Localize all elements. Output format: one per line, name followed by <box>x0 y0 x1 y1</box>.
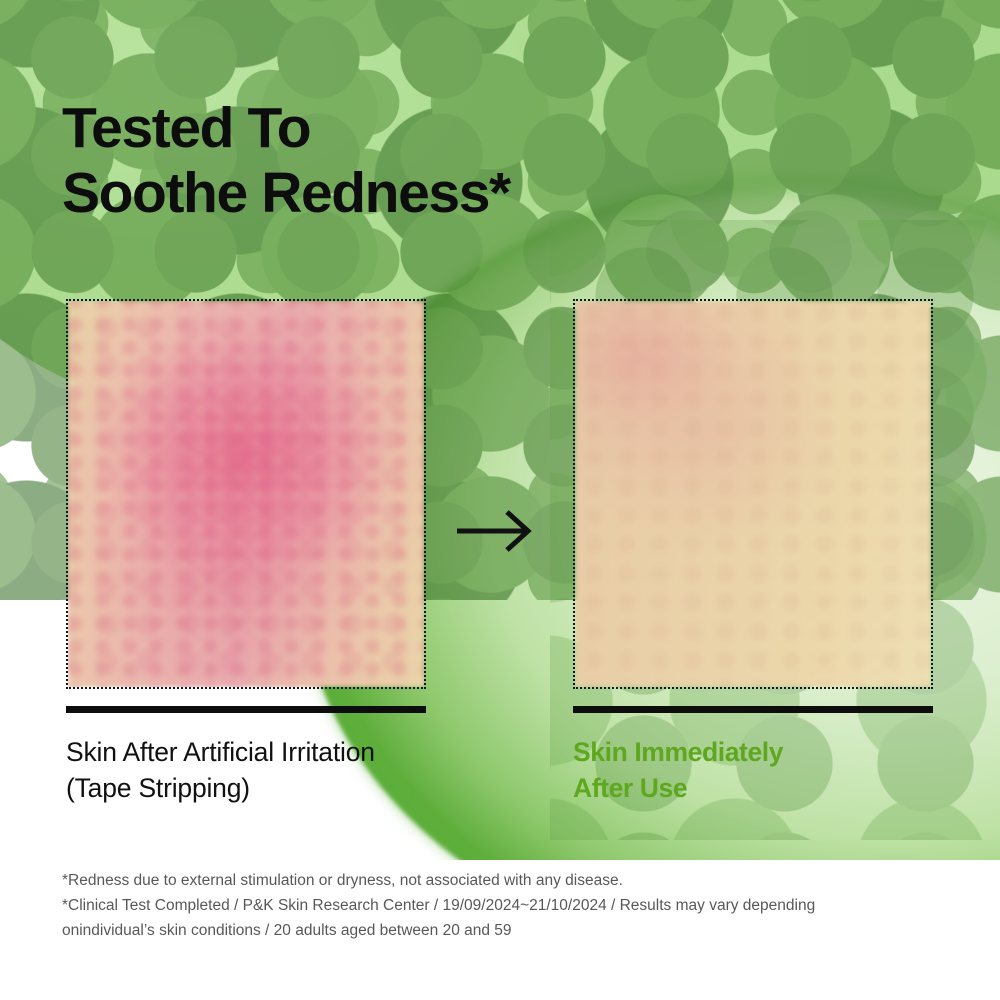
comparison-section: Skin After Artificial Irritation (Tape S… <box>0 0 1000 1000</box>
after-caption-line-2: After Use <box>573 771 953 807</box>
arrow-right-icon <box>455 508 535 554</box>
before-skin-photo <box>66 299 426 689</box>
after-panel <box>573 299 933 689</box>
disclaimer-line-1: *Redness due to external stimulation or … <box>62 868 942 893</box>
before-caption: Skin After Artificial Irritation (Tape S… <box>66 706 446 806</box>
before-caption-rule <box>66 706 426 713</box>
soothe-redness-ad: Tested To Soothe Redness* Skin After Art… <box>0 0 1000 1000</box>
before-caption-text: Skin After Artificial Irritation (Tape S… <box>66 735 446 806</box>
before-caption-line-1: Skin After Artificial Irritation <box>66 735 446 771</box>
after-skin-photo <box>573 299 933 689</box>
after-caption-text: Skin Immediately After Use <box>573 735 953 806</box>
disclaimer-text: *Redness due to external stimulation or … <box>62 868 942 943</box>
after-caption-rule <box>573 706 933 713</box>
disclaimer-line-2: *Clinical Test Completed / P&K Skin Rese… <box>62 893 942 918</box>
after-caption-line-1: Skin Immediately <box>573 735 953 771</box>
calm-skin-texture <box>575 301 931 687</box>
disclaimer-line-3: onindividual’s skin conditions / 20 adul… <box>62 918 942 943</box>
irritated-skin-texture <box>68 301 424 687</box>
before-caption-line-2: (Tape Stripping) <box>66 771 446 807</box>
before-panel <box>66 299 426 689</box>
after-caption: Skin Immediately After Use <box>573 706 953 806</box>
